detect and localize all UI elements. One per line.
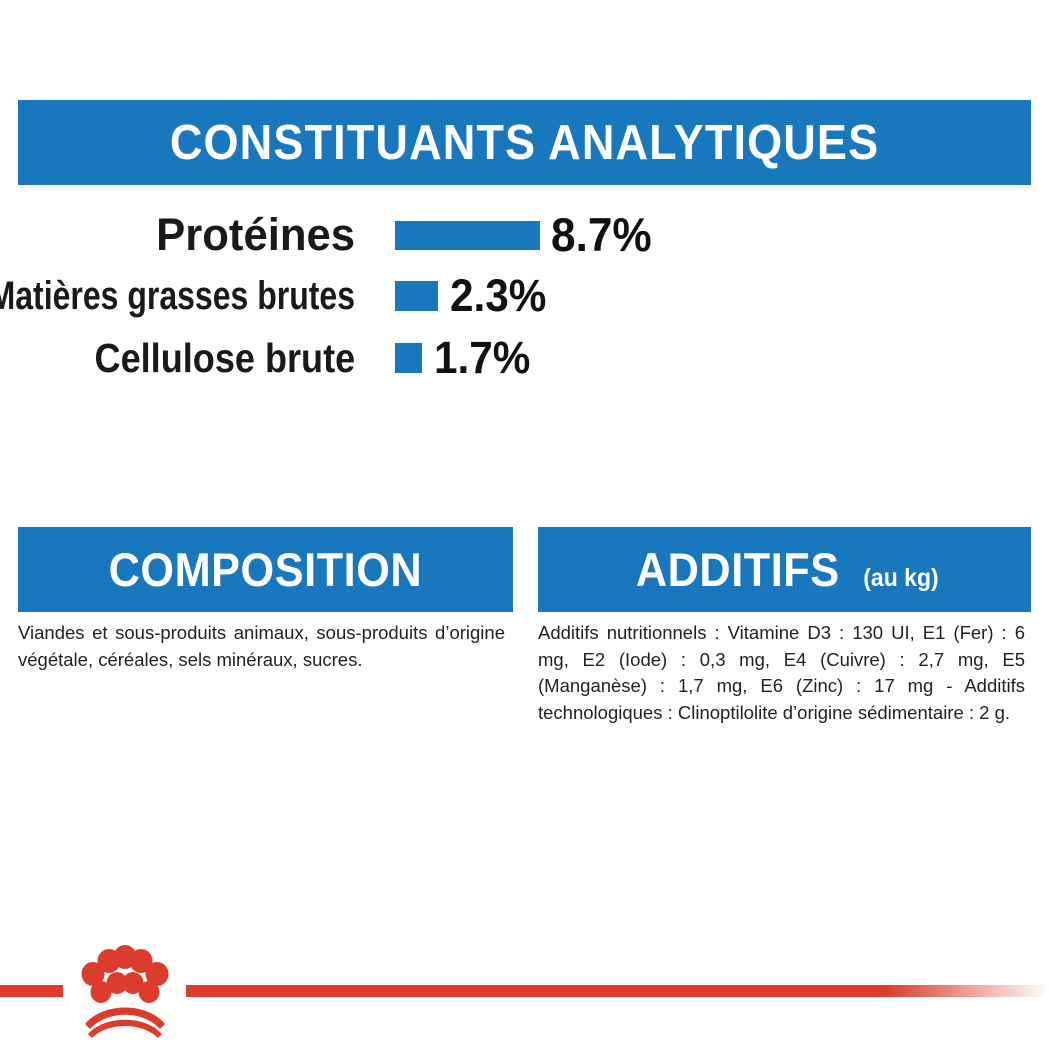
analytical-constituents-chart: Protéines 8.7% Matières grasses brutes 2…	[0, 205, 1049, 389]
additives-banner: ADDITIFS (au kg)	[538, 527, 1031, 612]
nutrient-bar-proteins	[395, 221, 540, 250]
additives-unit-suffix: (au kg)	[863, 564, 938, 593]
nutrient-bar-crude-fibre	[395, 343, 422, 373]
nutrient-value-crude-fat: 2.3%	[450, 265, 546, 327]
nutrient-value-crude-fibre: 1.7%	[434, 327, 530, 389]
red-rule-right	[186, 985, 1049, 997]
composition-text: Viandes et sous-produits animaux, sous-p…	[18, 620, 505, 673]
nutrient-label-proteins: Protéines	[156, 205, 355, 265]
page-title: CONSTITUANTS ANALYTIQUES	[170, 115, 879, 171]
analytical-constituents-banner: CONSTITUANTS ANALYTIQUES	[18, 100, 1031, 185]
nutrient-label-crude-fibre: Cellulose brute	[94, 327, 355, 389]
nutrient-bar-crude-fat	[395, 281, 438, 311]
nutrient-row: Cellulose brute 1.7%	[0, 327, 1049, 389]
red-rule-left	[0, 985, 63, 997]
nutrient-label-crude-fat: Matières grasses brutes	[0, 265, 355, 327]
additives-text: Additifs nutritionnels : Vitamine D3 : 1…	[538, 620, 1025, 726]
nutrient-row: Matières grasses brutes 2.3%	[0, 265, 1049, 327]
nutrient-row: Protéines 8.7%	[0, 205, 1049, 265]
nutrient-value-proteins: 8.7%	[551, 205, 652, 265]
additives-title: ADDITIFS	[636, 542, 840, 597]
composition-banner: COMPOSITION	[18, 527, 513, 612]
footer-brand-strip	[0, 930, 1049, 1049]
royal-canin-crown-icon	[63, 936, 187, 1044]
composition-title: COMPOSITION	[109, 542, 423, 597]
